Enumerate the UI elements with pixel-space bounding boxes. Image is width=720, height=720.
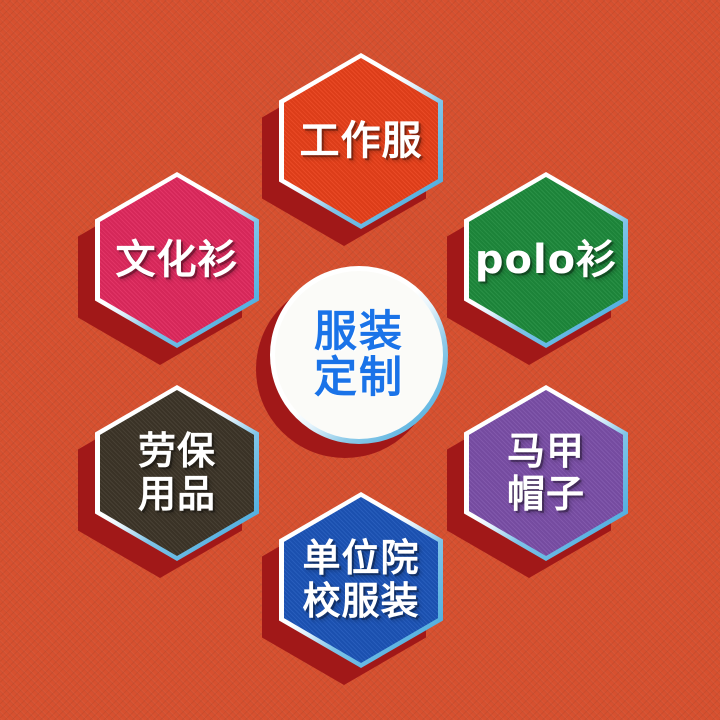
category-label-labor-protection-supplies: 劳保 用品 — [138, 430, 216, 515]
category-hexagon-vest-hat[interactable]: 马甲 帽子 — [464, 385, 628, 561]
category-label-culture-shirt: 文化衫 — [116, 238, 239, 283]
category-hexagon-labor-protection-supplies[interactable]: 劳保 用品 — [95, 385, 259, 561]
category-hexagon-polo-shirt[interactable]: polo衫 — [464, 172, 628, 348]
poster-canvas: 工作服 文化衫 polo衫 劳保 用品 马甲 帽子 — [0, 0, 720, 720]
category-label-workwear: 工作服 — [300, 119, 423, 164]
category-label-institution-school-uniform: 单位院 校服装 — [302, 537, 419, 622]
category-label-polo-shirt: polo衫 — [475, 238, 617, 283]
category-label-vest-hat: 马甲 帽子 — [507, 430, 585, 515]
category-hexagon-institution-school-uniform[interactable]: 单位院 校服装 — [279, 492, 443, 668]
category-hexagon-culture-shirt[interactable]: 文化衫 — [95, 172, 259, 348]
center-badge-custom-clothing[interactable]: 服装 定制 — [270, 266, 448, 444]
circle-face: 服装 定制 — [275, 271, 443, 439]
center-title: 服装 定制 — [314, 309, 404, 402]
category-hexagon-workwear[interactable]: 工作服 — [279, 53, 443, 229]
